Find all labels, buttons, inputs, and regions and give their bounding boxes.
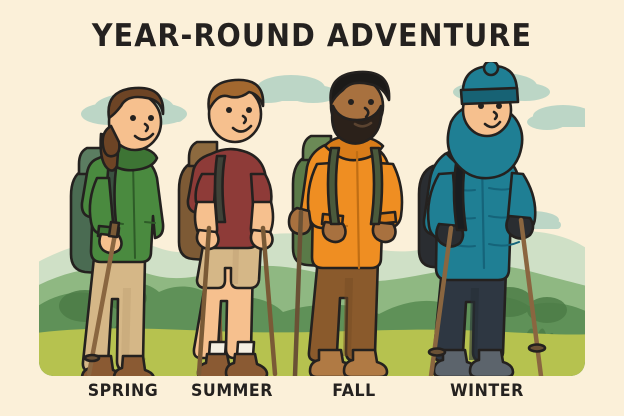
beanie-pom [484, 62, 498, 75]
pole-basket [529, 345, 545, 352]
season-label-fall: FALL [299, 381, 409, 401]
eye [130, 115, 136, 121]
eye [246, 107, 252, 113]
pole-grip [109, 222, 119, 237]
eye [496, 103, 502, 109]
season-label-winter: WINTER [428, 381, 545, 401]
eye [226, 107, 232, 113]
beanie-band [461, 88, 518, 104]
scene-svg [39, 62, 585, 376]
season-label-summer: SUMMER [174, 381, 289, 401]
eye [368, 99, 374, 105]
pole-basket [85, 355, 99, 361]
eye [348, 99, 354, 105]
shirt-sleeve-left [196, 174, 216, 204]
illustration-panel [39, 62, 585, 376]
page-title: YEAR-ROUND ADVENTURE [25, 18, 599, 54]
shirt-sleeve-right [251, 174, 271, 204]
shorts-shadow [232, 248, 239, 284]
poster-root: YEAR-ROUND ADVENTURE [0, 0, 624, 416]
eye [478, 103, 484, 109]
backpack-strap [215, 156, 225, 222]
pole-basket [429, 349, 445, 356]
eye [148, 115, 154, 121]
season-label-spring: SPRING [67, 381, 179, 401]
